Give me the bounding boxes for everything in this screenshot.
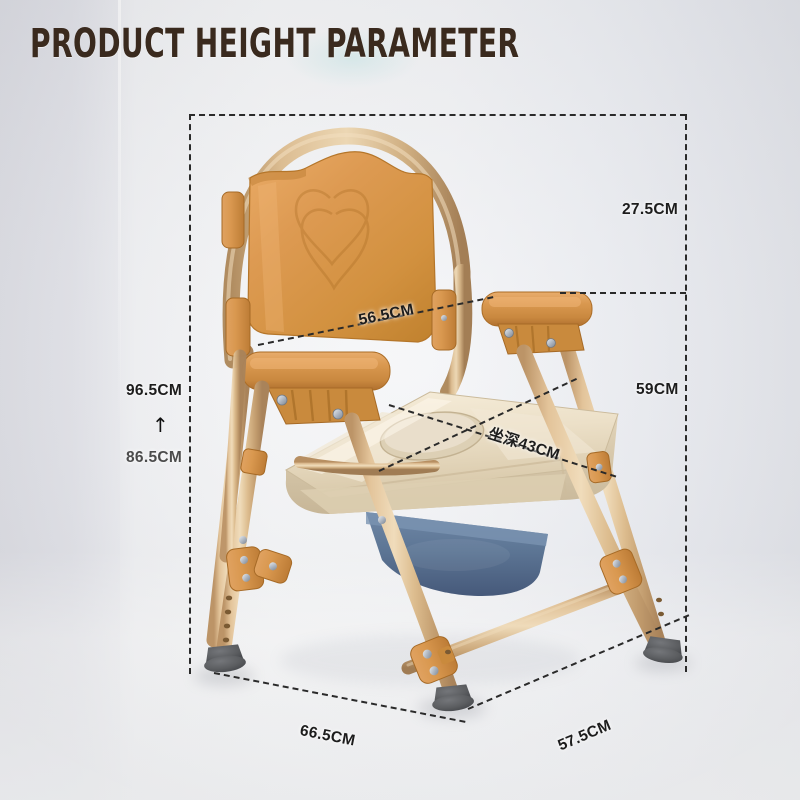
armrest-right xyxy=(482,292,592,354)
product-dimension-infographic: PRODUCT HEIGHT PARAMETER 27.5CM 59CM 96.… xyxy=(0,0,800,800)
height-adjust-arrow-icon: ↑ xyxy=(152,415,169,435)
page-title: PRODUCT HEIGHT PARAMETER xyxy=(30,22,519,66)
commode-chair-illustration xyxy=(0,0,800,800)
dimension-label-27-5cm: 27.5CM xyxy=(622,201,678,219)
dimension-label-96-5cm: 96.5CM xyxy=(126,382,182,400)
dimension-label-59cm: 59CM xyxy=(636,381,679,399)
dimension-label-86-5cm: 86.5CM xyxy=(126,449,182,467)
